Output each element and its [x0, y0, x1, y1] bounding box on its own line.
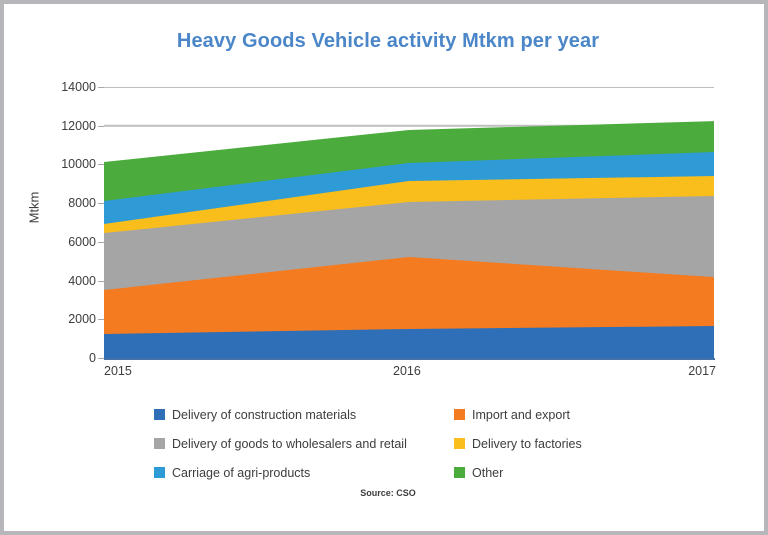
- legend-swatch-icon: [154, 438, 165, 449]
- legend-swatch-icon: [454, 438, 465, 449]
- legend-label: Carriage of agri-products: [172, 466, 310, 480]
- y-tick-label: 2000: [24, 312, 96, 326]
- legend-label: Other: [472, 466, 503, 480]
- plot-wrapper: Mtkm 02000400060008000100001200014000 20…: [4, 4, 768, 404]
- legend-item[interactable]: Delivery to factories: [454, 437, 734, 451]
- x-tick-label: 2015: [104, 364, 132, 378]
- chart-card: Heavy Goods Vehicle activity Mtkm per ye…: [0, 0, 768, 535]
- y-tick-label: 4000: [24, 274, 96, 288]
- plot-area: [104, 87, 714, 358]
- legend-item[interactable]: Delivery of construction materials: [154, 408, 454, 422]
- legend-swatch-icon: [154, 467, 165, 478]
- legend-label: Delivery to factories: [472, 437, 582, 451]
- x-axis-line: [104, 358, 715, 360]
- y-tick-label: 14000: [24, 80, 96, 94]
- legend-label: Delivery of goods to wholesalers and ret…: [172, 437, 407, 451]
- legend-swatch-icon: [154, 409, 165, 420]
- legend-label: Import and export: [472, 408, 570, 422]
- y-tick-label: 12000: [24, 119, 96, 133]
- y-tick-mark: [98, 203, 104, 204]
- source-note: Source: CSO: [4, 488, 768, 498]
- legend-swatch-icon: [454, 409, 465, 420]
- y-tick-mark: [98, 319, 104, 320]
- legend-swatch-icon: [454, 467, 465, 478]
- y-tick-label: 6000: [24, 235, 96, 249]
- y-tick-mark: [98, 126, 104, 127]
- legend-item[interactable]: Import and export: [454, 408, 734, 422]
- y-tick-mark: [98, 358, 104, 359]
- x-tick-label: 2016: [393, 364, 421, 378]
- chart-legend: Delivery of construction materialsImport…: [154, 400, 734, 487]
- x-tick-label: 2017: [688, 364, 716, 378]
- y-tick-mark: [98, 164, 104, 165]
- y-tick-mark: [98, 281, 104, 282]
- y-axis-tick-labels: 02000400060008000100001200014000: [18, 87, 96, 358]
- y-tick-label: 0: [24, 351, 96, 365]
- legend-label: Delivery of construction materials: [172, 408, 356, 422]
- legend-item[interactable]: Carriage of agri-products: [154, 466, 454, 480]
- y-tick-mark: [98, 242, 104, 243]
- y-tick-label: 10000: [24, 157, 96, 171]
- y-tick-label: 8000: [24, 196, 96, 210]
- area-series-layers: [104, 121, 714, 358]
- legend-item[interactable]: Delivery of goods to wholesalers and ret…: [154, 437, 454, 451]
- legend-item[interactable]: Other: [454, 466, 734, 480]
- stacked-area-svg: [104, 87, 714, 358]
- y-tick-mark: [98, 87, 104, 88]
